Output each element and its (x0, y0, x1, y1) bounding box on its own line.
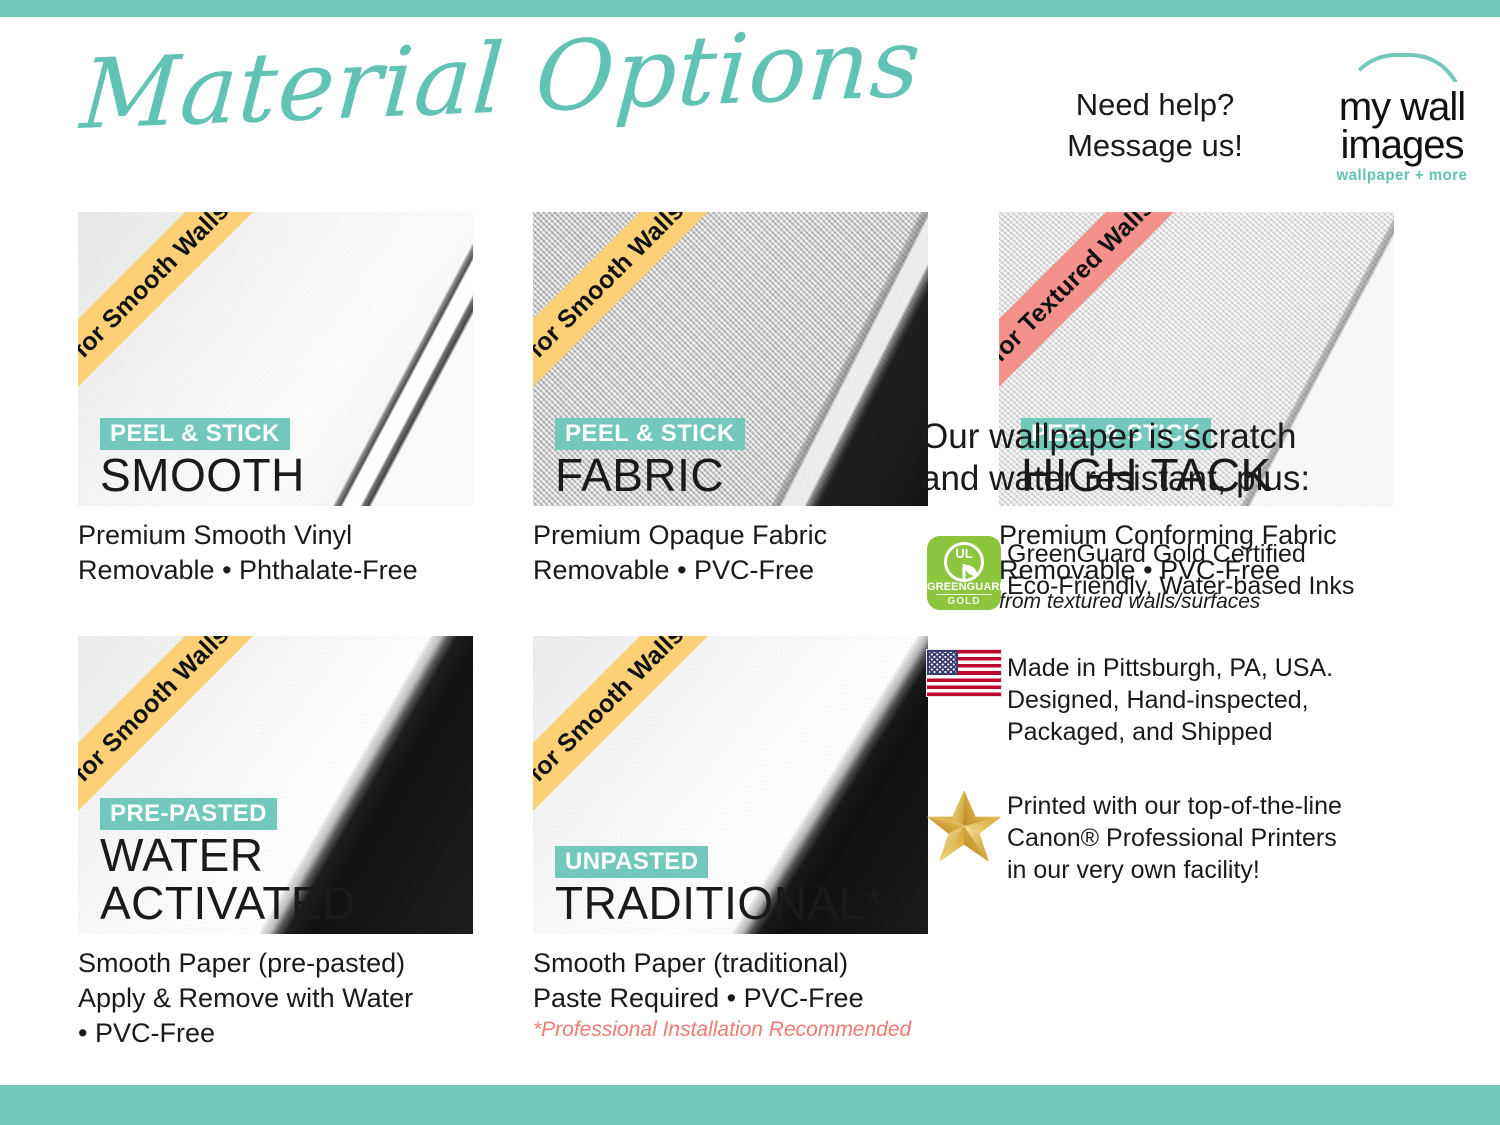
material-title: SMOOTH (100, 452, 460, 500)
desc-note: *Professional Installation Recommended (533, 1017, 928, 1043)
swatch-caption: PEEL & STICK SMOOTH (100, 418, 460, 500)
feature-line-3: Packaged, and Shipped (1007, 716, 1333, 748)
desc-line-1: Smooth Paper (traditional) (533, 946, 928, 981)
desc-line-1: Premium Smooth Vinyl (78, 518, 473, 553)
features-panel: Our wallpaper is scratch and water resis… (921, 416, 1391, 886)
desc-line-3: • PVC-Free (78, 1016, 473, 1051)
feature-line-3: in our very own facility! (1007, 854, 1342, 886)
greenguard-icon-slot: UL GREENGUARD GOLD (921, 536, 1007, 610)
desc-line-2: Removable • PVC-Free (533, 553, 928, 588)
material-description: Premium Smooth Vinyl Removable • Phthala… (78, 518, 473, 588)
greenguard-gold-badge-icon: UL GREENGUARD GOLD (927, 536, 1001, 610)
material-title: FABRIC (555, 452, 915, 500)
desc-line-1: Smooth Paper (pre-pasted) (78, 946, 473, 981)
wall-type-ribbon: for Textured Walls (999, 212, 1206, 414)
feature-line-1: GreenGuard Gold Certified (1007, 538, 1354, 570)
badge-divider (936, 594, 992, 595)
flag-canton (927, 650, 958, 675)
swatch-image-water-activated: for Smooth Walls PRE-PASTED WATER ACTIVA… (78, 636, 473, 934)
wall-type-ribbon: for Smooth Walls (533, 212, 740, 414)
feature-text-made-in-usa: Made in Pittsburgh, PA, USA. Designed, H… (1007, 650, 1333, 748)
logo-line-1: my wall (1318, 87, 1486, 127)
application-badge: PRE-PASTED (100, 798, 277, 830)
wall-type-ribbon: for Smooth Walls (78, 212, 285, 414)
page-header: Material Options Need help? Message us! … (0, 17, 1500, 200)
features-heading-line1: Our wallpaper is scratch (921, 416, 1391, 458)
brand-logo: my wall images wallpaper + more (1318, 49, 1486, 191)
need-help-block: Need help? Message us! (1020, 85, 1290, 167)
ul-text: UL (955, 547, 972, 560)
need-help-line1: Need help? (1020, 85, 1290, 126)
desc-line-2: Removable • Phthalate-Free (78, 553, 473, 588)
feature-line-2: Designed, Hand-inspected, (1007, 684, 1333, 716)
material-description: Smooth Paper (traditional) Paste Require… (533, 946, 928, 1043)
feature-line-2: Canon® Professional Printers (1007, 822, 1342, 854)
desc-line-2: Paste Required • PVC-Free (533, 981, 928, 1016)
bottom-accent-bar (0, 1085, 1500, 1125)
desc-line-1: Premium Opaque Fabric (533, 518, 928, 553)
page-title: Material Options (78, 14, 924, 143)
material-description: Premium Opaque Fabric Removable • PVC-Fr… (533, 518, 928, 588)
material-card-smooth[interactable]: for Smooth Walls PEEL & STICK SMOOTH Pre… (78, 212, 473, 588)
greenguard-level: GOLD (927, 596, 1001, 607)
swatch-image-fabric: for Smooth Walls PEEL & STICK FABRIC (533, 212, 928, 506)
swatch-caption: UNPASTED TRADITIONAL* (555, 846, 915, 928)
material-card-fabric[interactable]: for Smooth Walls PEEL & STICK FABRIC Pre… (533, 212, 928, 588)
application-badge: PEEL & STICK (555, 418, 745, 450)
infographic-page: Material Options Need help? Message us! … (0, 0, 1500, 1125)
material-card-traditional[interactable]: for Smooth Walls UNPASTED TRADITIONAL* S… (533, 636, 928, 1043)
feature-item-made-in-usa: Made in Pittsburgh, PA, USA. Designed, H… (921, 650, 1391, 748)
swatch-caption: PRE-PASTED WATER ACTIVATED (100, 798, 460, 928)
feature-item-greenguard: UL GREENGUARD GOLD GreenGuard Gold Certi… (921, 536, 1391, 610)
us-flag-icon (927, 650, 1001, 696)
material-description: Smooth Paper (pre-pasted) Apply & Remove… (78, 946, 473, 1051)
swatch-image-smooth: for Smooth Walls PEEL & STICK SMOOTH (78, 212, 473, 506)
features-heading: Our wallpaper is scratch and water resis… (921, 416, 1391, 500)
desc-line-2: Apply & Remove with Water (78, 981, 473, 1016)
feature-text-canon-printers: Printed with our top-of-the-line Canon® … (1007, 788, 1342, 886)
greenguard-label: GREENGUARD (927, 581, 1001, 593)
wall-type-ribbon: for Smooth Walls (533, 636, 740, 838)
gold-star-icon (925, 788, 1003, 864)
material-card-water-activated[interactable]: for Smooth Walls PRE-PASTED WATER ACTIVA… (78, 636, 473, 1051)
feature-line-2: Eco-Friendly, Water-based Inks (1007, 570, 1354, 602)
swatch-image-traditional: for Smooth Walls UNPASTED TRADITIONAL* (533, 636, 928, 934)
flag-icon-slot (921, 650, 1007, 696)
logo-line-2: images (1318, 125, 1486, 165)
logo-tagline: wallpaper + more (1318, 167, 1486, 184)
application-badge: PEEL & STICK (100, 418, 290, 450)
need-help-line2: Message us! (1020, 126, 1290, 167)
feature-item-canon-printers: Printed with our top-of-the-line Canon® … (921, 788, 1391, 886)
swatch-caption: PEEL & STICK FABRIC (555, 418, 915, 500)
leaf-icon (963, 564, 966, 580)
feature-line-1: Made in Pittsburgh, PA, USA. (1007, 652, 1333, 684)
features-heading-line2: and water resistant, plus: (921, 458, 1391, 500)
application-badge: UNPASTED (555, 846, 708, 878)
star-icon-slot (921, 788, 1007, 864)
feature-line-1: Printed with our top-of-the-line (1007, 790, 1342, 822)
feature-text-greenguard: GreenGuard Gold Certified Eco-Friendly, … (1007, 536, 1354, 602)
material-title: WATER ACTIVATED (100, 832, 460, 928)
material-title: TRADITIONAL* (555, 880, 915, 928)
